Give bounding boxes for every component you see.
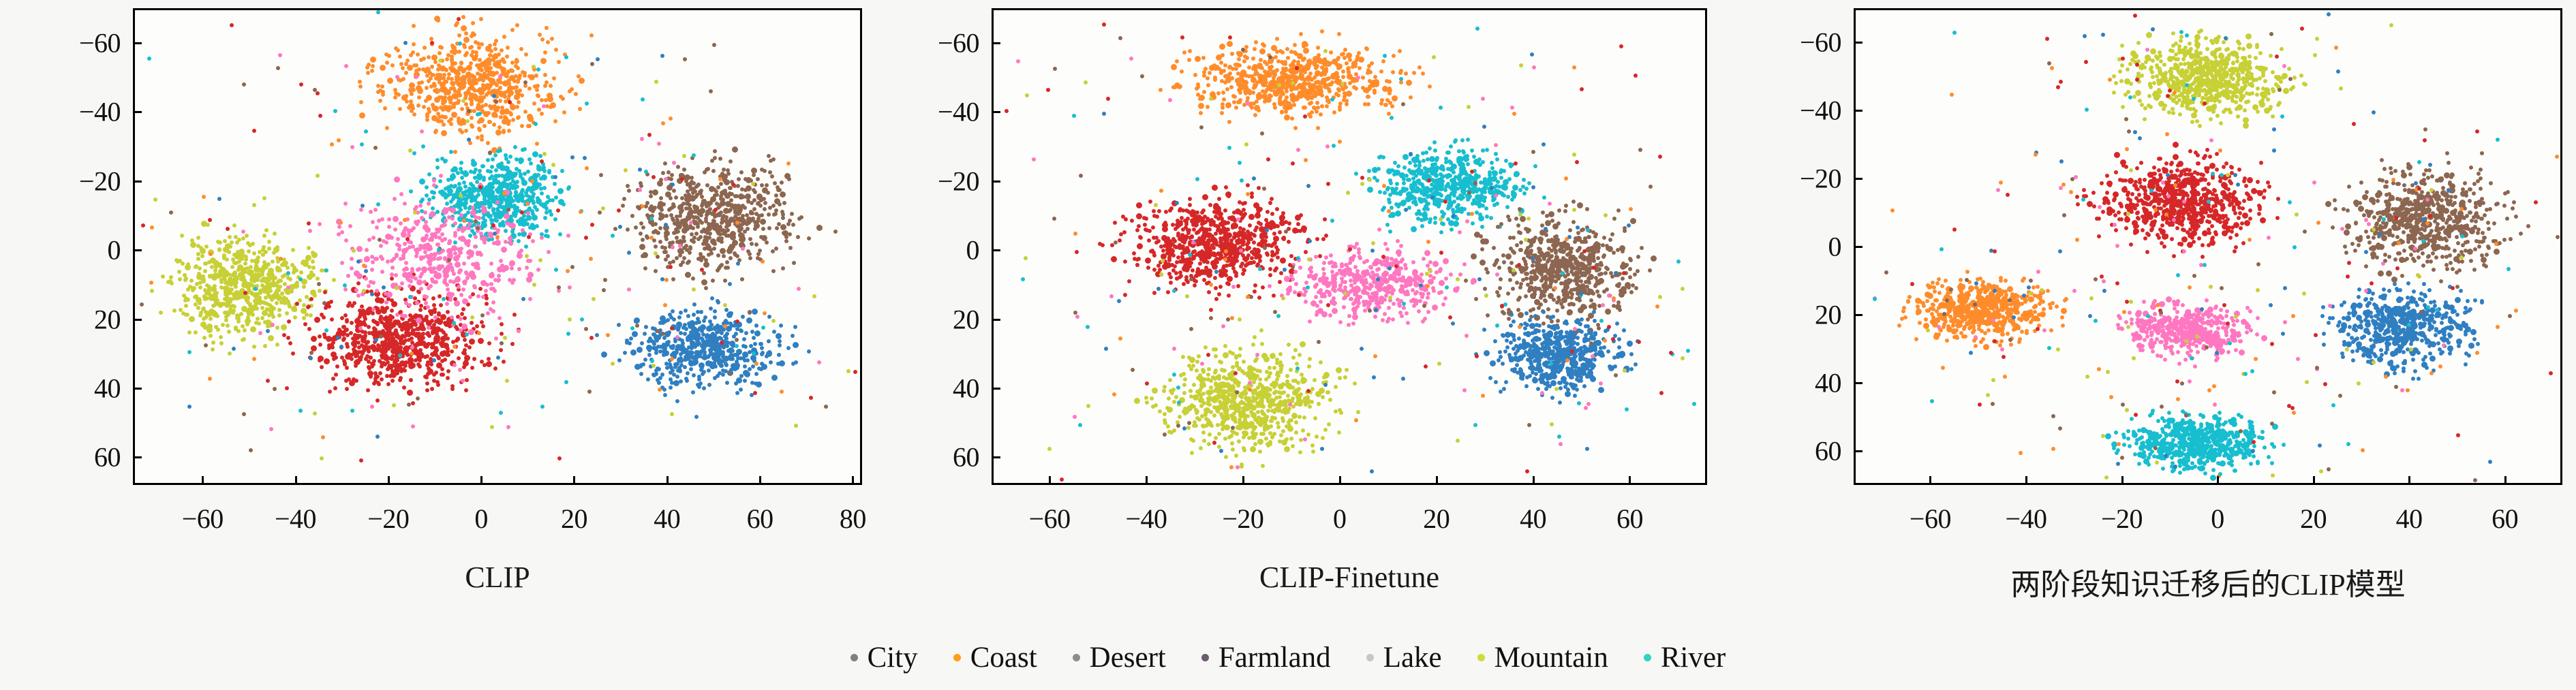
x-tickmark [1629, 476, 1631, 485]
y-tick-label: −40 [0, 96, 121, 128]
x-tick-label: 40 [654, 503, 680, 535]
legend-label: Farmland [1218, 641, 1331, 674]
x-tickmark [759, 476, 761, 485]
x-tick-label: −60 [182, 503, 224, 535]
y-tickmark [133, 456, 142, 458]
x-tickmark [1436, 476, 1438, 485]
x-tick-label: −60 [1029, 503, 1071, 535]
x-tick-label: −40 [1125, 503, 1167, 535]
y-tickmark [1854, 314, 1862, 316]
legend-label: Lake [1383, 641, 1442, 674]
y-tick-label: −20 [843, 165, 979, 197]
x-tick-label: 20 [561, 503, 587, 535]
x-tickmark [1929, 476, 1931, 485]
y-tickmark [1854, 42, 1862, 44]
x-tick-label: −20 [367, 503, 409, 535]
panel-clip-finetune: 6040200−20−40−60−60−40−200204060CLIP-Fin… [859, 0, 1717, 616]
x-tickmark [388, 476, 390, 485]
x-tick-label: −40 [2005, 503, 2046, 535]
y-tick-label: 0 [1705, 231, 1841, 263]
plot-area-CLIP-Finetune [992, 8, 1707, 485]
legend-label: City [868, 641, 918, 674]
legend-item-farmland[interactable]: Farmland [1201, 641, 1331, 674]
x-tick-label: 0 [1333, 503, 1347, 535]
legend-marker-icon [850, 654, 858, 661]
legend-marker-icon [1477, 654, 1485, 661]
x-tickmark [480, 476, 482, 485]
panel-title: 两阶段知识迁移后的CLIP模型 [2010, 560, 2405, 603]
tsne-figure: 6040200−20−40−60−60−40−20020406080CLIP 6… [0, 0, 2576, 690]
legend-marker-icon [1644, 654, 1651, 661]
panel-title: CLIP [465, 560, 530, 595]
x-tick-label: 60 [747, 503, 773, 535]
y-tickmark [1854, 450, 1862, 452]
x-tickmark [1339, 476, 1341, 485]
x-tick-label: −60 [1910, 503, 1951, 535]
legend-item-mountain[interactable]: Mountain [1477, 641, 1608, 674]
y-tickmark [133, 111, 142, 113]
y-tickmark [133, 249, 142, 251]
y-tick-label: 40 [1705, 367, 1841, 399]
y-tick-label: −60 [0, 27, 121, 59]
y-tick-label: −40 [1705, 95, 1841, 127]
y-tickmark [1854, 382, 1862, 384]
y-tickmark [992, 388, 1000, 390]
panel-row: 6040200−20−40−60−60−40−20020406080CLIP 6… [0, 0, 2576, 616]
y-tickmark [992, 42, 1000, 44]
panel-title: CLIP-Finetune [1259, 560, 1439, 595]
x-tickmark [852, 476, 854, 485]
y-tickmark [133, 388, 142, 390]
legend-label: Desert [1090, 641, 1166, 674]
legend-label: River [1661, 641, 1726, 674]
legend-item-city[interactable]: City [850, 641, 918, 674]
x-tickmark [1242, 476, 1244, 485]
x-tick-label: −20 [1222, 503, 1263, 535]
x-tick-label: 60 [2491, 503, 2518, 535]
x-tickmark [2217, 476, 2219, 485]
x-tickmark [573, 476, 575, 485]
y-tick-label: 0 [843, 234, 979, 266]
legend: CityCoastDesertFarmlandLakeMountainRiver [0, 633, 2576, 681]
y-tickmark [133, 319, 142, 321]
x-tick-label: 60 [1616, 503, 1643, 535]
x-tick-label: 20 [1423, 503, 1450, 535]
legend-marker-icon [1366, 654, 1374, 661]
x-tickmark [1146, 476, 1148, 485]
plot-area-两阶段知识迁移后的CLIP模型 [1854, 8, 2562, 485]
y-tick-label: 40 [843, 372, 979, 404]
legend-marker-icon [1201, 654, 1209, 661]
y-tickmark [1854, 246, 1862, 248]
y-tick-label: 20 [843, 303, 979, 335]
panel-clip: 6040200−20−40−60−60−40−20020406080CLIP [0, 0, 859, 616]
x-tick-label: 0 [474, 503, 488, 535]
x-tickmark [1533, 476, 1535, 485]
plot-area-CLIP [133, 8, 862, 485]
x-tick-label: 0 [2211, 503, 2224, 535]
x-tickmark [2121, 476, 2123, 485]
legend-item-lake[interactable]: Lake [1366, 641, 1442, 674]
y-tick-label: 40 [0, 372, 121, 404]
y-tickmark [992, 111, 1000, 113]
x-tickmark [295, 476, 297, 485]
y-tick-label: −40 [843, 96, 979, 128]
x-tickmark [2025, 476, 2027, 485]
legend-item-river[interactable]: River [1644, 641, 1726, 674]
legend-label: Mountain [1494, 641, 1608, 674]
y-tickmark [1854, 110, 1862, 112]
x-tickmark [2504, 476, 2506, 485]
legend-item-desert[interactable]: Desert [1073, 641, 1166, 674]
y-tickmark [992, 181, 1000, 183]
panel-clip-two-stage: 6040200−20−40−60−60−40−200204060两阶段知识迁移后… [1717, 0, 2576, 616]
y-tickmark [1854, 178, 1862, 180]
x-tick-label: 40 [1520, 503, 1546, 535]
y-tickmark [992, 319, 1000, 321]
y-tickmark [992, 456, 1000, 458]
x-tick-label: 20 [2300, 503, 2327, 535]
x-tick-label: −20 [2101, 503, 2143, 535]
y-tick-label: 60 [843, 441, 979, 473]
y-tickmark [133, 181, 142, 183]
x-tickmark [2408, 476, 2410, 485]
y-tick-label: 60 [1705, 435, 1841, 467]
y-tickmark [133, 42, 142, 44]
x-tick-label: −40 [275, 503, 316, 535]
y-tick-label: 60 [0, 441, 121, 473]
x-tickmark [1049, 476, 1051, 485]
legend-label: Coast [970, 641, 1037, 674]
y-tick-label: −20 [0, 165, 121, 197]
x-tick-label: 40 [2396, 503, 2423, 535]
y-tick-label: 20 [1705, 299, 1841, 331]
y-tick-label: 0 [0, 234, 121, 266]
y-tick-label: −60 [843, 27, 979, 59]
legend-marker-icon [953, 654, 961, 661]
legend-item-coast[interactable]: Coast [953, 641, 1037, 674]
y-tick-label: −20 [1705, 163, 1841, 195]
x-tickmark [2313, 476, 2315, 485]
x-tickmark [666, 476, 669, 485]
x-tickmark [202, 476, 204, 485]
y-tick-label: 20 [0, 303, 121, 335]
y-tick-label: −60 [1705, 27, 1841, 59]
legend-marker-icon [1073, 654, 1080, 661]
y-tickmark [992, 249, 1000, 251]
